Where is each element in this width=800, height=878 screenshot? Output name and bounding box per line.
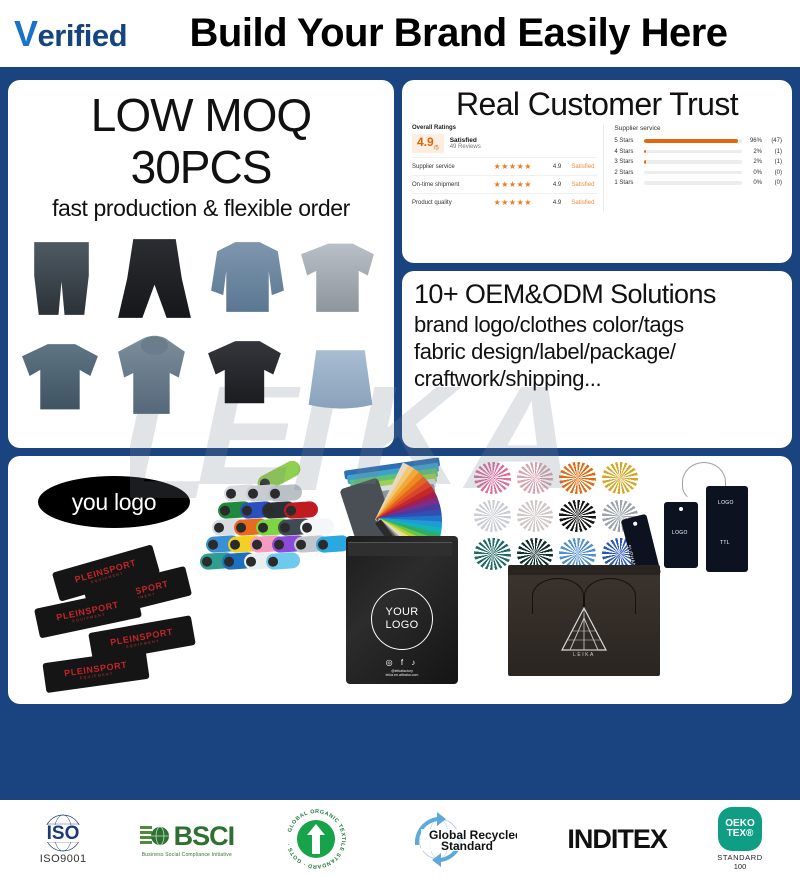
hang-tag-3-text: TTL (720, 540, 730, 546)
metric-tag: Satisfied (571, 182, 594, 188)
star-bar-track (644, 160, 742, 164)
low-moq-card: LOW MOQ 30PCS fast production & flexible… (8, 80, 394, 448)
right-column: Real Customer Trust Overall Ratings 4.9/… (402, 80, 792, 448)
bsci-hand-globe-icon (140, 823, 170, 849)
star-bar-label: 2 Stars (614, 170, 640, 176)
oem-line-2: fabric design/label/package/ (414, 339, 780, 366)
svg-text:Standard: Standard (441, 839, 493, 853)
review-count: 49 Reviews (450, 144, 481, 150)
metric-name: Supplier service (412, 164, 494, 170)
metric-row: Supplier service★★★★★4.9Satisfied (412, 157, 597, 175)
score-badge: 4.9/5 (412, 134, 444, 153)
star-bar-percent: 2% (746, 149, 762, 155)
svg-text:ISO: ISO (47, 823, 80, 844)
garment-denim-skirt (295, 329, 386, 426)
yarn-swatch (517, 462, 554, 494)
hang-tag-group: SUPHANTEL LOGO LOGO TTL (628, 460, 778, 578)
shopping-bag-logo-icon (554, 606, 614, 652)
garment-cropped-jacket (202, 329, 293, 426)
overall-ratings-label: Overall Ratings (412, 125, 597, 131)
garment-denim-tshirt (16, 329, 107, 426)
cert-oekotex: OEKO TEX® STANDARD 100 (717, 807, 763, 871)
garment-denim-jacket (202, 230, 293, 327)
showcase-inner: you logo SUPHANTEL LOGO LOGO TT (8, 456, 792, 704)
cert-bsci-main: BSCI (140, 821, 235, 852)
shopping-bag-top (508, 565, 660, 575)
fabric-roll (265, 552, 300, 570)
star-bar-track (644, 171, 742, 175)
tag-hole (633, 521, 638, 526)
star-bar-row: 4 Stars2%(1) (614, 149, 782, 155)
ratings-panel: Overall Ratings 4.9/5 Satisfied 49 Revie… (412, 125, 782, 211)
hang-tag-3: LOGO TTL (706, 486, 748, 572)
cert-iso-sub: ISO9001 (40, 853, 87, 865)
shopping-bag: LEIKA (508, 572, 660, 676)
yarn-swatch (474, 538, 511, 570)
mailer-logo-line-1: YOUR (386, 606, 419, 619)
metric-row: Product quality★★★★★4.9Satisfied (412, 193, 597, 211)
star-bar-fill (644, 150, 646, 154)
your-logo-pill: you logo (38, 476, 190, 528)
customer-trust-card: Real Customer Trust Overall Ratings 4.9/… (402, 80, 792, 263)
verified-check-icon: V (14, 13, 38, 55)
star-bar-label: 5 Stars (614, 138, 640, 144)
customization-showcase: you logo SUPHANTEL LOGO LOGO TT (8, 456, 792, 704)
woven-label-group: PLEINSPORTEQUIPMENTPLEINSPORTEQUIPMENTPL… (24, 552, 204, 692)
score-meta: Satisfied 49 Reviews (450, 137, 481, 150)
yarn-swatch (474, 462, 511, 494)
score-value: 4.9 (417, 135, 434, 149)
mailer-seal-strip (348, 542, 452, 556)
fabric-roll (283, 501, 318, 519)
yarn-swatch (474, 500, 511, 532)
star-bar-track (644, 150, 742, 154)
metric-name: On-time shipment (412, 182, 494, 188)
star-bar-row: 1 Stars0%(0) (614, 180, 782, 186)
fabric-roll (267, 484, 302, 502)
garment-denim-shorts (16, 230, 107, 327)
ratings-summary: Overall Ratings 4.9/5 Satisfied 49 Revie… (412, 125, 604, 211)
star-bar-track (644, 181, 742, 185)
cert-inditex: INDITEX (567, 824, 667, 855)
star-bar-list: 5 Stars96%(47)4 Stars2%(1)3 Stars2%(1)2 … (614, 138, 782, 186)
globe-icon: ISO (37, 813, 89, 853)
banner-header: Verified Build Your Brand Easily Here (0, 0, 800, 72)
garment-denim-shirt (295, 230, 386, 327)
star-bar-count: (1) (766, 149, 782, 155)
moq-headline: LOW MOQ 30PCS (16, 90, 386, 193)
oem-odm-card: 10+ OEM&ODM Solutions brand logo/clothes… (402, 271, 792, 448)
banner-body: L E I K A LOW MOQ 30PCS fast production … (0, 72, 800, 800)
garment-flared-jeans (109, 230, 200, 327)
oem-title: 10+ OEM&ODM Solutions (414, 279, 780, 310)
metric-stars: ★★★★★ (494, 180, 553, 189)
hang-tag-3-brand: LOGO (718, 500, 734, 506)
shopping-bag-brand: LEIKA (573, 652, 595, 658)
fabric-roll (299, 518, 334, 536)
star-bar-label: 3 Stars (614, 159, 640, 165)
cert-bsci-label: BSCI (174, 821, 235, 852)
star-bar-label: 1 Stars (614, 180, 640, 186)
moq-subtitle: fast production & flexible order (16, 195, 386, 222)
garment-denim-hoodie (109, 329, 200, 426)
mailer-handle-2: leika.en.alibaba.com (386, 673, 419, 677)
trust-title: Real Customer Trust (412, 86, 782, 123)
star-bar-label: 4 Stars (614, 149, 640, 155)
star-bar-fill (644, 139, 738, 143)
star-bar-fill (644, 160, 646, 164)
yarn-swatch (559, 462, 596, 494)
star-bar-count: (0) (766, 170, 782, 176)
metric-value: 4.9 (553, 164, 572, 170)
breakdown-title: Supplier service (614, 125, 782, 132)
oekotex-line-2: TEX® (727, 829, 754, 839)
score-suffix: /5 (434, 145, 439, 151)
moq-line-1: LOW MOQ (91, 89, 311, 141)
fabric-rolls (186, 460, 346, 578)
metric-stars: ★★★★★ (494, 162, 553, 171)
garment-gallery (16, 230, 386, 426)
cert-bsci-sub: Business Social Compliance Initiative (142, 852, 232, 858)
metric-tag: Satisfied (571, 200, 594, 206)
metric-value: 4.9 (553, 200, 572, 206)
verified-badge: Verified (14, 13, 127, 55)
star-bar-row: 3 Stars2%(1) (614, 159, 782, 165)
cert-iso: ISO ISO9001 (37, 813, 89, 865)
hang-tag-2: LOGO (664, 502, 698, 568)
star-bar-count: (47) (766, 138, 782, 144)
recycle-globe-icon: Global Recycled Standard (397, 811, 517, 867)
certification-footer: ISO ISO9001 BSCI Business Social Complia… (0, 800, 800, 878)
mailer-logo: YOUR LOGO (371, 588, 433, 650)
yarn-swatch (559, 500, 596, 532)
top-row: LOW MOQ 30PCS fast production & flexible… (8, 80, 792, 448)
oekotex-sub: STANDARD (717, 853, 763, 862)
metric-value: 4.9 (553, 182, 572, 188)
star-bar-count: (0) (766, 180, 782, 186)
oem-line-1: brand logo/clothes color/tags (414, 312, 780, 339)
metric-stars: ★★★★★ (494, 198, 553, 207)
woven-label: PLEINSPORTEQUIPMENT (42, 649, 149, 693)
cert-grs: Global Recycled Standard (397, 811, 517, 867)
moq-column: LOW MOQ 30PCS fast production & flexible… (8, 80, 394, 448)
mailer-logo-line-2: LOGO (386, 619, 419, 632)
oekotex-line-1: OEKO (725, 819, 754, 829)
score-status: Satisfied (450, 137, 481, 144)
yarn-swatch (517, 500, 554, 532)
oem-line-3: craftwork/shipping... (414, 366, 780, 393)
star-bar-percent: 2% (746, 159, 762, 165)
oekotex-sub2: 100 (734, 862, 747, 871)
overall-score-row: 4.9/5 Satisfied 49 Reviews (412, 134, 597, 153)
ratings-breakdown: Supplier service 5 Stars96%(47)4 Stars2%… (604, 125, 782, 211)
metric-row: On-time shipment★★★★★4.9Satisfied (412, 175, 597, 193)
star-bar-count: (1) (766, 159, 782, 165)
star-bar-percent: 0% (746, 180, 762, 186)
star-bar-percent: 0% (746, 170, 762, 176)
cert-gots: GLOBAL ORGANIC TEXTILE STANDARD · GOTS · (285, 808, 347, 870)
star-bar-row: 5 Stars96%(47) (614, 138, 782, 144)
moq-line-2: 30PCS (131, 141, 272, 193)
cert-bsci: BSCI Business Social Compliance Initiati… (140, 821, 235, 858)
page-title: Build Your Brand Easily Here (127, 11, 790, 56)
gots-icon: GLOBAL ORGANIC TEXTILE STANDARD · GOTS · (285, 808, 347, 870)
metric-list: Supplier service★★★★★4.9SatisfiedOn-time… (412, 157, 597, 211)
cert-inditex-label: INDITEX (567, 824, 667, 855)
hang-tag-2-text: LOGO (672, 530, 688, 536)
star-bar-row: 2 Stars0%(0) (614, 170, 782, 176)
star-bar-percent: 96% (746, 138, 762, 144)
mailer-handle-text: @leikafactory leika.en.alibaba.com (386, 669, 419, 678)
tag-hole (679, 507, 683, 511)
star-bar-track (644, 139, 742, 143)
social-icons: ◎ f ♪ (386, 658, 419, 667)
verified-label: erified (38, 18, 128, 54)
metric-name: Product quality (412, 200, 494, 206)
mailer-bag: YOUR LOGO ◎ f ♪ @leikafactory leika.en.a… (346, 536, 458, 684)
yarn-swatch-grid (474, 462, 638, 570)
oekotex-badge-icon: OEKO TEX® (718, 807, 762, 851)
metric-tag: Satisfied (571, 164, 594, 170)
